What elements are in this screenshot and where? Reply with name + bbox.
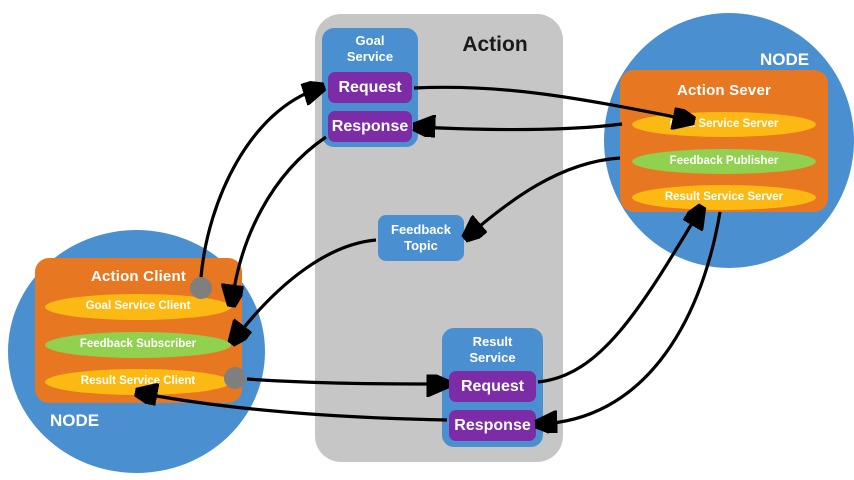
arrow-result-client-to-request: [247, 379, 444, 384]
arrow-result-response-to-client: [140, 393, 447, 420]
diagram-canvas: Action NODE Action Sever Goal Service Se…: [0, 0, 854, 480]
arrow-goal-client-to-request: [201, 88, 320, 277]
arrow-result-request-to-server: [538, 210, 700, 382]
arrow-layer: [0, 0, 854, 480]
arrow-request-to-goal-server: [414, 87, 690, 120]
arrow-feedback-topic-to-subscriber: [234, 240, 376, 340]
arrow-feedback-publisher-to-topic: [468, 158, 620, 236]
arrow-goal-server-to-response: [418, 124, 622, 130]
arrow-response-to-goal-client: [232, 137, 326, 302]
